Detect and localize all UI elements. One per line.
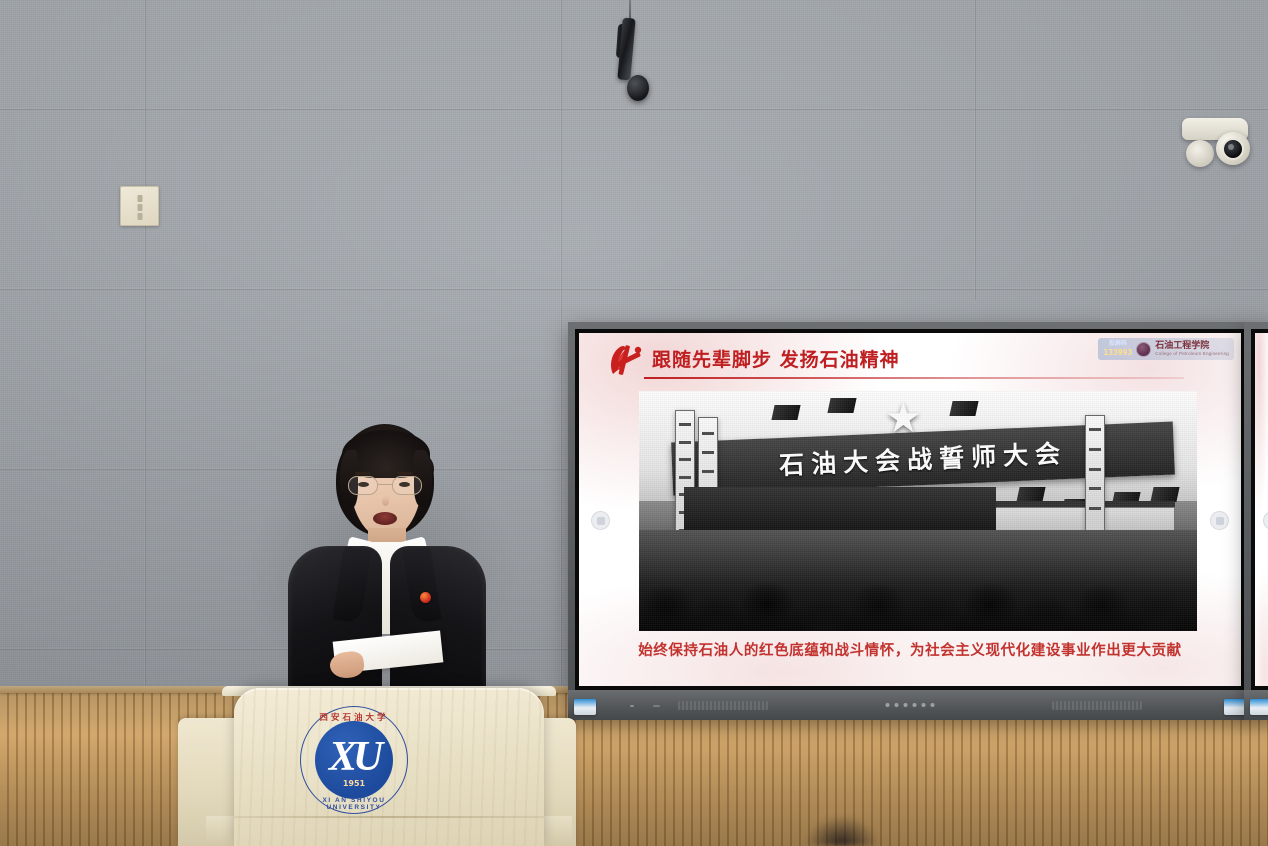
mouth-speaking <box>373 512 397 525</box>
cpc-hammer-sickle-emblem <box>606 341 646 379</box>
eyebrow-right <box>397 472 413 475</box>
nose <box>382 496 389 506</box>
wall-outlet-icon <box>120 186 159 226</box>
screencast-code-group: 投屏码 133993 <box>1103 341 1132 357</box>
screen-surface-secondary[interactable] <box>1255 333 1268 686</box>
control-button[interactable] <box>886 703 890 707</box>
historical-photo: ★ 石油大会战誓师大会 <box>639 391 1197 631</box>
screen-handle-right-icon[interactable] <box>1210 511 1229 530</box>
ir-receiver-icon <box>653 705 660 707</box>
eyeglass-bridge <box>378 484 393 485</box>
screencast-badge: 投屏码 133993 石油工程学院 College of Petroleum E… <box>1098 338 1234 360</box>
screen-surface[interactable]: 跟随先辈脚步 发扬石油精神 投屏码 133993 石油工程学院 College … <box>579 333 1241 686</box>
power-led-icon <box>630 705 634 707</box>
speaker-grille-right <box>1052 701 1142 710</box>
control-button[interactable] <box>913 703 917 707</box>
eyeglass-lens-left <box>348 476 378 495</box>
display-bottom-bezel <box>568 690 1252 720</box>
control-button[interactable] <box>895 703 899 707</box>
control-button[interactable] <box>904 703 908 707</box>
screen-bezel: 跟随先辈脚步 发扬石油精神 投屏码 133993 石油工程学院 College … <box>575 329 1245 690</box>
control-button[interactable] <box>931 703 935 707</box>
speaker-presenter <box>282 424 488 714</box>
screen-handle-icon-secondary[interactable] <box>1263 511 1268 530</box>
microphone-capsule <box>627 75 649 101</box>
title-underline <box>644 377 1184 379</box>
screencast-code: 133993 <box>1103 348 1132 357</box>
display-corner-tag-secondary <box>1250 699 1268 715</box>
emblem-founding-year: 1951 <box>315 779 393 788</box>
emblem-name-en: XI AN SHIYOU UNIVERSITY <box>300 797 408 811</box>
eyeglass-lens-right <box>392 476 422 495</box>
interactive-display-main[interactable]: 跟随先辈脚步 发扬石油精神 投屏码 133993 石油工程学院 College … <box>568 322 1252 720</box>
screen-bezel-secondary <box>1251 329 1268 690</box>
party-pin-badge-icon <box>420 592 431 603</box>
slide-title: 跟随先辈脚步 发扬石油精神 <box>652 345 900 372</box>
school-name-group: 石油工程学院 College of Petroleum Engineering <box>1155 342 1229 357</box>
university-emblem: 西安石油大学 XU 1951 XI AN SHIYOU UNIVERSITY <box>300 706 408 814</box>
display-control-buttons[interactable] <box>886 703 935 707</box>
display-corner-tag-left <box>574 699 596 715</box>
slide-header: 跟随先辈脚步 发扬石油精神 投屏码 133993 石油工程学院 College … <box>579 333 1241 385</box>
camera-lens-icon <box>1222 138 1244 160</box>
speaker-grille-left <box>678 701 768 710</box>
lecture-hall-scene: 跟随先辈脚步 发扬石油精神 投屏码 133993 石油工程学院 College … <box>0 0 1268 846</box>
display-corner-tag-right <box>1224 699 1246 715</box>
slide-caption: 始终保持石油人的红色底蕴和战斗情怀，为社会主义现代化建设事业作出更大贡献 <box>579 639 1241 660</box>
interactive-display-secondary[interactable] <box>1244 322 1268 720</box>
control-button[interactable] <box>922 703 926 707</box>
foreground-object-blur <box>806 816 878 846</box>
podium-seam <box>234 816 544 818</box>
screencast-label: 投屏码 <box>1109 341 1127 348</box>
photo-film-grain <box>639 391 1197 631</box>
school-name-en: College of Petroleum Engineering <box>1155 352 1229 357</box>
presentation-slide: 跟随先辈脚步 发扬石油精神 投屏码 133993 石油工程学院 College … <box>579 333 1241 686</box>
eyeglasses-icon <box>346 476 426 496</box>
screen-handle-left-icon[interactable] <box>591 511 610 530</box>
emblem-blue-disc: XU 1951 <box>315 721 393 799</box>
camera-secondary-lens <box>1186 140 1214 167</box>
eyebrow-left <box>355 472 371 475</box>
university-seal-icon <box>1136 342 1151 357</box>
presentation-slide-secondary <box>1255 333 1268 686</box>
